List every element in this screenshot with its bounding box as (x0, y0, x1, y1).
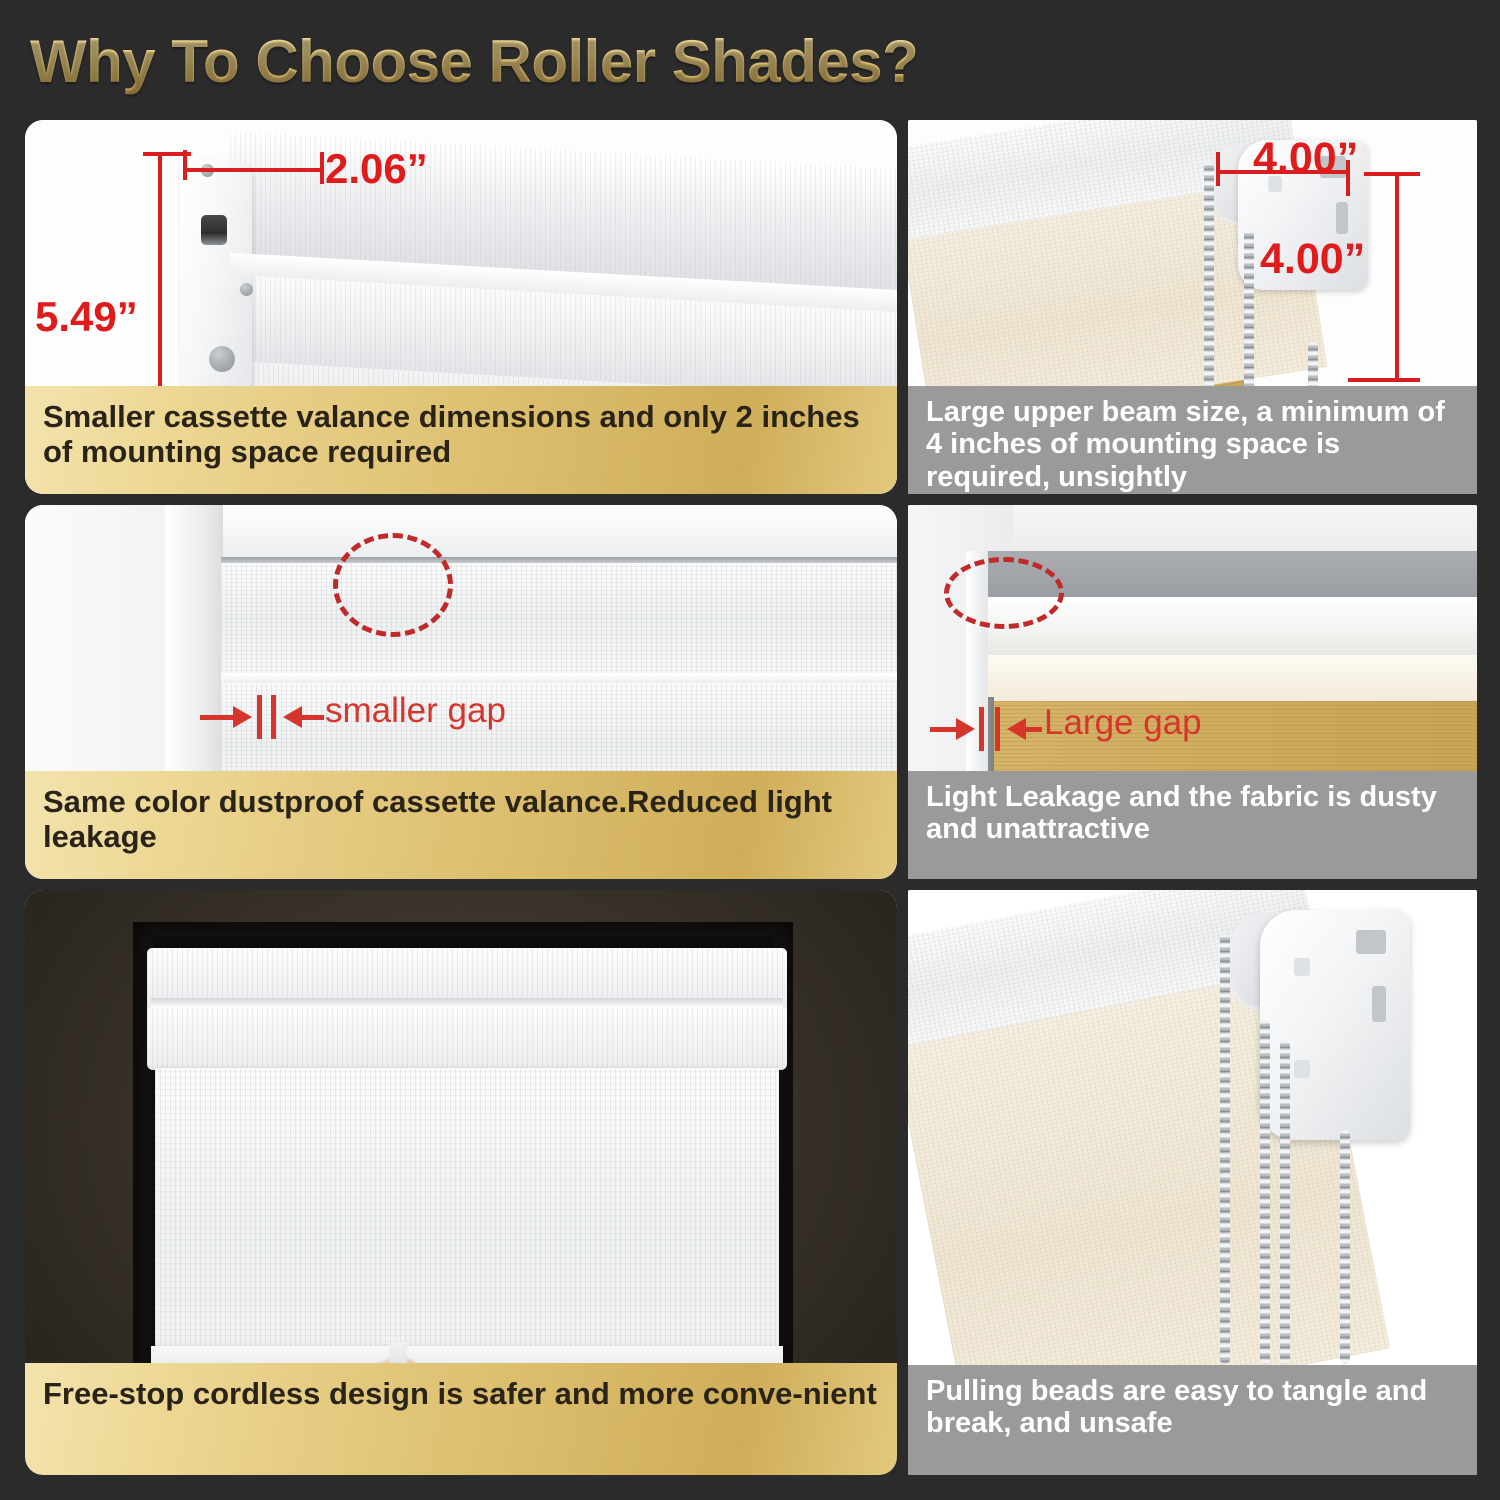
page-title-text: Why To Choose Roller Shades? (30, 27, 918, 96)
infographic-root: Why To Choose Roller Shades? 2.06” (0, 0, 1500, 1500)
width-dimension-tick (1216, 152, 1220, 186)
gap-arrow-left-icon (1007, 718, 1026, 740)
panel-pulling-beads: Pulling beads are easy to tangle and bre… (908, 890, 1477, 1475)
height-dimension-line (1395, 172, 1399, 382)
gap-arrow-left-icon (283, 706, 302, 728)
panel-light-leakage: Large gap Light Leakage and the fabric i… (908, 505, 1477, 879)
bracket-notch (1294, 1060, 1310, 1078)
bracket-notch (1336, 202, 1348, 234)
panel-dustproof-cassette: smaller gap Same color dustproof cassett… (25, 505, 897, 879)
bead-chain (1220, 934, 1230, 1364)
width-dimension-label: 4.00” (1253, 134, 1358, 183)
panel-free-stop-cordless: Free-stop cordless design is safer and m… (25, 890, 897, 1475)
width-dimension-tick (320, 152, 324, 184)
highlight-circle (944, 557, 1064, 629)
panel-large-upper-beam: 4.00” 4.00” Large upper beam size, a min… (908, 120, 1477, 494)
height-dimension-tick (1348, 378, 1420, 382)
valance-groove (151, 998, 783, 1008)
gap-label: Large gap (1044, 703, 1202, 743)
cassette-valance-face (221, 563, 897, 675)
bracket-notch (1356, 930, 1386, 954)
screw-icon (209, 346, 235, 372)
bracket-notch (1372, 986, 1386, 1022)
window-head-trim (165, 505, 897, 557)
screw-icon (240, 283, 253, 296)
gap-marker-bar (995, 707, 1000, 751)
width-dimension-line (185, 168, 322, 172)
bead-chain (1244, 230, 1254, 395)
valance-lower-shell (147, 1008, 787, 1070)
gap-arrow-tail (302, 715, 324, 720)
height-dimension-tick (1364, 172, 1420, 176)
panel-cassette-valance: 2.06” 5.49” Smaller cassette valance dim… (25, 120, 897, 494)
bead-chain (1280, 1040, 1290, 1364)
caption-large-upper-beam: Large upper beam size, a minimum of 4 in… (908, 386, 1477, 494)
caption-dustproof-cassette: Same color dustproof cassette valance.Re… (25, 771, 897, 879)
gap-label: smaller gap (325, 691, 506, 731)
bead-chain (1340, 1130, 1350, 1364)
upper-beam-face (988, 597, 1477, 659)
caption-pulling-beads: Pulling beads are easy to tangle and bre… (908, 1365, 1477, 1475)
bead-chain (1204, 162, 1214, 392)
highlight-circle (333, 533, 453, 637)
gap-arrow-tail (200, 715, 236, 720)
width-dimension-label: 2.06” (325, 145, 428, 193)
height-dimension-label: 5.49” (35, 293, 138, 341)
gap-marker-bar (271, 695, 276, 739)
caption-cassette-valance: Smaller cassette valance dimensions and … (25, 386, 897, 494)
panel-grid: 2.06” 5.49” Smaller cassette valance dim… (25, 120, 1477, 1475)
height-dimension-tick (143, 152, 191, 156)
valance-bracket-slot (201, 215, 227, 245)
gap-arrow-right-icon (956, 718, 975, 740)
shade-fabric-panel (155, 1068, 779, 1360)
bracket-notch (1294, 958, 1310, 976)
beam-lower-edge (988, 655, 1477, 701)
height-dimension-label: 4.00” (1260, 235, 1365, 284)
caption-free-stop-cordless: Free-stop cordless design is safer and m… (25, 1363, 897, 1475)
bead-chain (1260, 1020, 1270, 1364)
caption-light-leakage: Light Leakage and the fabric is dusty an… (908, 771, 1477, 879)
gap-arrow-tail (1026, 727, 1042, 732)
gap-arrow-right-icon (233, 706, 252, 728)
gap-marker-bar (979, 707, 984, 751)
gap-marker-bar (257, 695, 262, 739)
page-title: Why To Choose Roller Shades? (30, 22, 918, 100)
